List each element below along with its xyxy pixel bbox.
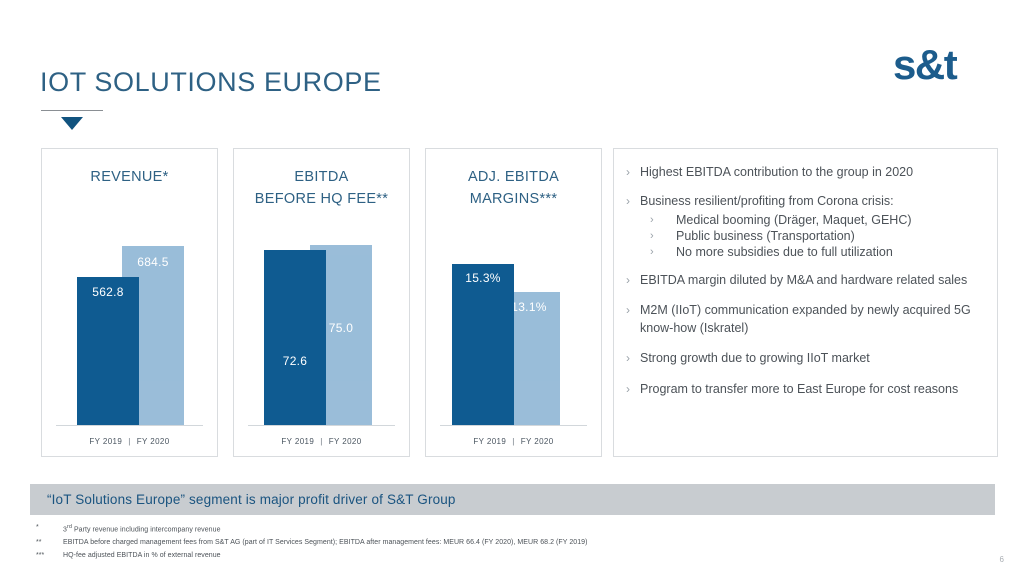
list-item: › Business resilient/profiting from Coro…: [626, 192, 983, 210]
page-number: 6: [1000, 555, 1004, 564]
chart-title-margin: ADJ. EBITDA MARGINS***: [426, 166, 601, 210]
chart-card-revenue: REVENUE* 562.8 684.5 FY 2019|FY 2020: [41, 148, 218, 457]
list-item: › Program to transfer more to East Europ…: [626, 380, 983, 398]
footnotes: * 3rd Party revenue including intercompa…: [36, 522, 976, 563]
axis-label-fy2020-revenue: FY 2020: [137, 437, 170, 446]
sub-list: › Medical booming (Dräger, Maquet, GEHC)…: [626, 212, 983, 260]
axis-label-fy2020-margin: FY 2020: [521, 437, 554, 446]
page-title: IOT SOLUTIONS EUROPE: [40, 67, 382, 98]
chart-axis-margin: [440, 425, 587, 426]
list-item: › Strong growth due to growing IIoT mark…: [626, 349, 983, 367]
axis-label-fy2020-ebitda: FY 2020: [329, 437, 362, 446]
footnote-marker: *: [36, 522, 63, 535]
list-item-label: M2M (IIoT) communication expanded by new…: [640, 301, 983, 337]
sub-list-item-label: Medical booming (Dräger, Maquet, GEHC): [676, 212, 983, 228]
axis-separator-margin: |: [506, 437, 520, 446]
bar-fy2019-ebitda: 72.6: [264, 250, 326, 425]
axis-label-fy2019-revenue: FY 2019: [89, 437, 122, 446]
chart-plot-ebitda: 72.6 75.0 FY 2019|FY 2020: [234, 209, 409, 456]
list-item-label: Program to transfer more to East Europe …: [640, 380, 983, 398]
chevron-right-icon: ›: [626, 271, 640, 289]
bar-value-fy2019-ebitda: 72.6: [264, 354, 326, 368]
sub-list-item-label: No more subsidies due to full utilizatio…: [676, 244, 983, 260]
bar-value-fy2020-revenue: 684.5: [122, 255, 184, 269]
chevron-right-icon: ›: [626, 380, 640, 398]
bar-fy2019-margin: 15.3%: [452, 264, 514, 425]
chart-title-margin-line1: ADJ. EBITDA: [426, 166, 601, 188]
highlights-panel: › Highest EBITDA contribution to the gro…: [613, 148, 998, 457]
chart-title-ebitda-line1: EBITDA: [234, 166, 409, 188]
list-item: › EBITDA margin diluted by M&A and hardw…: [626, 271, 983, 289]
axis-separator-revenue: |: [122, 437, 136, 446]
chart-title-revenue: REVENUE*: [42, 166, 217, 188]
chart-plot-margin: 15.3% 13.1% FY 2019|FY 2020: [426, 209, 601, 456]
list-item-label: Business resilient/profiting from Corona…: [640, 192, 983, 210]
chart-title-ebitda-line2: BEFORE HQ FEE**: [234, 188, 409, 210]
bar-fy2019-revenue: 562.8: [77, 277, 139, 425]
footnote-row: * 3rd Party revenue including intercompa…: [36, 522, 976, 535]
chart-card-ebitda: EBITDA BEFORE HQ FEE** 72.6 75.0 FY 2019…: [233, 148, 410, 457]
title-divider: [41, 110, 103, 111]
axis-label-fy2019-margin: FY 2019: [473, 437, 506, 446]
list-item-label: Strong growth due to growing IIoT market: [640, 349, 983, 367]
chart-axis-ebitda: [248, 425, 395, 426]
chevron-right-icon: ›: [626, 163, 640, 181]
axis-separator-ebitda: |: [314, 437, 328, 446]
footnote-row: *** HQ-fee adjusted EBITDA in % of exter…: [36, 550, 976, 561]
list-item: › Highest EBITDA contribution to the gro…: [626, 163, 983, 181]
st-logo: s&t: [893, 44, 956, 86]
list-item-label: Highest EBITDA contribution to the group…: [640, 163, 983, 181]
bar-value-fy2019-margin: 15.3%: [452, 271, 514, 285]
footnote-row: ** EBITDA before charged management fees…: [36, 537, 976, 548]
footnote-marker: **: [36, 537, 63, 548]
chevron-right-icon: ›: [650, 244, 676, 260]
sub-list-item-label: Public business (Transportation): [676, 228, 983, 244]
chart-title-margin-line2: MARGINS***: [426, 188, 601, 210]
footnote-text: 3rd Party revenue including intercompany…: [63, 522, 976, 535]
chevron-right-icon: ›: [626, 301, 640, 319]
list-item: › M2M (IIoT) communication expanded by n…: [626, 301, 983, 337]
chevron-right-icon: ›: [650, 228, 676, 244]
slide: s&t IOT SOLUTIONS EUROPE REVENUE* 562.8 …: [0, 0, 1024, 576]
chart-card-margin: ADJ. EBITDA MARGINS*** 15.3% 13.1% FY 20…: [425, 148, 602, 457]
sub-list-item: › Public business (Transportation): [650, 228, 983, 244]
caret-down-icon: [61, 117, 83, 130]
footnote-text: EBITDA before charged management fees fr…: [63, 537, 976, 548]
chevron-right-icon: ›: [626, 192, 640, 210]
footnote-text: HQ-fee adjusted EBITDA in % of external …: [63, 550, 976, 561]
chart-plot-revenue: 562.8 684.5 FY 2019|FY 2020: [42, 209, 217, 456]
summary-banner: “IoT Solutions Europe” segment is major …: [30, 484, 995, 515]
list-item-label: EBITDA margin diluted by M&A and hardwar…: [640, 271, 983, 289]
chart-axis-labels-ebitda: FY 2019|FY 2020: [234, 437, 409, 446]
chevron-right-icon: ›: [626, 349, 640, 367]
sub-list-item: › Medical booming (Dräger, Maquet, GEHC): [650, 212, 983, 228]
bar-value-fy2019-revenue: 562.8: [77, 285, 139, 299]
axis-label-fy2019-ebitda: FY 2019: [281, 437, 314, 446]
chart-axis-labels-margin: FY 2019|FY 2020: [426, 437, 601, 446]
footnote-text-main: Party revenue including intercompany rev…: [72, 526, 221, 533]
chevron-right-icon: ›: [650, 212, 676, 228]
chart-axis-revenue: [56, 425, 203, 426]
sub-list-item: › No more subsidies due to full utilizat…: [650, 244, 983, 260]
summary-banner-text: “IoT Solutions Europe” segment is major …: [47, 492, 456, 507]
footnote-marker: ***: [36, 550, 63, 561]
chart-axis-labels-revenue: FY 2019|FY 2020: [42, 437, 217, 446]
chart-title-ebitda: EBITDA BEFORE HQ FEE**: [234, 166, 409, 210]
